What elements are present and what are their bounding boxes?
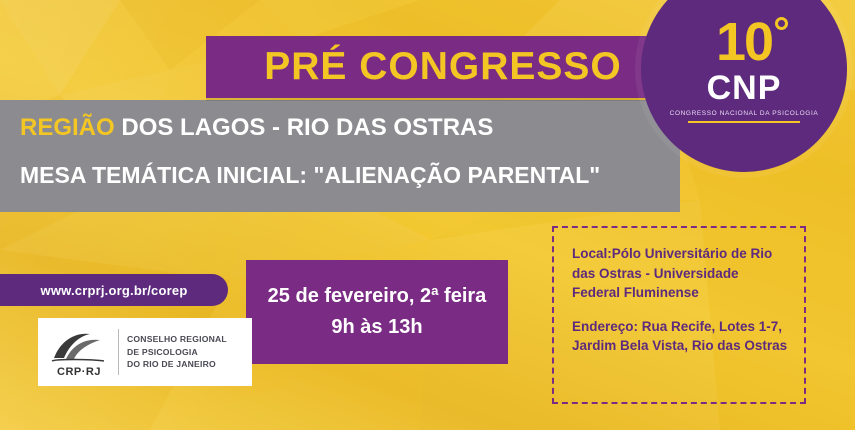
title-bar: PRÉ CONGRESSO	[206, 36, 680, 98]
grey-band: REGIÃO DOS LAGOS - RIO DAS OSTRAS MESA T…	[0, 100, 680, 212]
cnp-logo-acronym: CNP	[707, 71, 782, 105]
venue-local: Local:Pólo Universitário de Rio das Ostr…	[572, 244, 790, 303]
cnp-logo-underline	[688, 121, 800, 123]
theme-line: MESA TEMÁTICA INICIAL: "ALIENAÇÃO PARENT…	[20, 162, 600, 189]
poster-canvas: REGIÃO DOS LAGOS - RIO DAS OSTRAS MESA T…	[0, 0, 855, 430]
website-url-pill[interactable]: www.crprj.org.br/corep	[0, 274, 228, 306]
crp-divider	[118, 329, 119, 375]
crp-logo-card: CRP·RJ CONSELHO REGIONAL DE PSICOLOGIA D…	[38, 318, 252, 386]
subtitle-rest: DOS LAGOS - RIO DAS OSTRAS	[115, 114, 494, 141]
crp-mark-text: CRP·RJ	[48, 366, 110, 378]
venue-endereco: Endereço: Rua Recife, Lotes 1-7, Jardim …	[572, 317, 790, 356]
crp-name-line1: CONSELHO REGIONAL	[127, 333, 227, 345]
degree-circle-icon	[775, 17, 788, 30]
cnp-logo-number-text: 10	[716, 12, 772, 72]
bird-icon	[50, 328, 108, 364]
crp-name-line3: DO RIO DE JANEIRO	[127, 358, 227, 370]
date-text: 25 de fevereiro, 2ª feira	[268, 285, 487, 308]
crp-name: CONSELHO REGIONAL DE PSICOLOGIA DO RIO D…	[127, 333, 227, 370]
page-title: PRÉ CONGRESSO	[264, 45, 622, 89]
crp-name-line2: DE PSICOLOGIA	[127, 346, 227, 358]
crp-mark: CRP·RJ	[48, 326, 110, 378]
date-box: 25 de fevereiro, 2ª feira 9h às 13h	[246, 260, 508, 364]
subtitle-line: REGIÃO DOS LAGOS - RIO DAS OSTRAS	[20, 114, 493, 142]
subtitle-highlight: REGIÃO	[20, 114, 115, 141]
time-text: 9h às 13h	[331, 316, 422, 339]
venue-info-box: Local:Pólo Universitário de Rio das Ostr…	[552, 226, 806, 404]
cnp-logo-caption: CONGRESSO NACIONAL DA PSICOLOGIA	[670, 110, 819, 117]
website-url-text: www.crprj.org.br/corep	[41, 283, 188, 298]
cnp-logo-number: 10	[716, 15, 772, 69]
